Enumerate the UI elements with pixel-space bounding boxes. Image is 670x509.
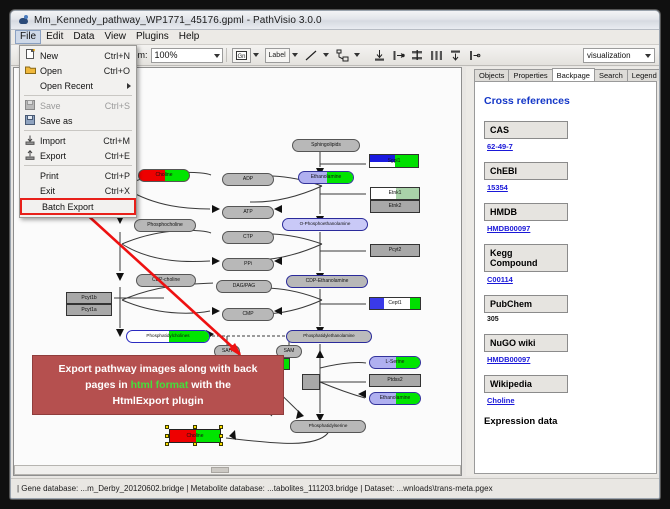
line-icon bbox=[305, 49, 318, 62]
toolbar-separator bbox=[226, 48, 227, 62]
menu-item-accelerator: Ctrl+M bbox=[103, 136, 136, 146]
menu-item-print[interactable]: Print Ctrl+P bbox=[20, 168, 136, 183]
node-label: PPi bbox=[244, 262, 252, 267]
node-ppi[interactable]: PPi bbox=[222, 258, 274, 271]
chevron-down-icon bbox=[214, 54, 220, 58]
node-grey-small[interactable] bbox=[302, 374, 320, 390]
menu-item-accelerator: Ctrl+E bbox=[105, 151, 136, 161]
annotation-line3: HtmlExport plugin bbox=[113, 395, 204, 407]
menu-item-label: Print bbox=[40, 171, 105, 181]
menu-plugins[interactable]: Plugins bbox=[131, 30, 174, 44]
svg-text:Gn: Gn bbox=[237, 54, 245, 60]
node-choline[interactable]: Choline bbox=[138, 169, 190, 182]
node-label: Pcyt1b bbox=[81, 296, 96, 301]
annotation-line2-c: with the bbox=[188, 379, 231, 391]
canvas-hscrollbar[interactable] bbox=[14, 465, 461, 475]
node-cdp-choline[interactable]: CDP-choline bbox=[136, 274, 196, 287]
pathvisio-icon bbox=[18, 15, 29, 26]
align-center-tool[interactable] bbox=[409, 47, 426, 64]
node-adp[interactable]: ADP bbox=[222, 173, 274, 186]
menu-item-label: Open Recent bbox=[40, 81, 136, 91]
menu-item-save-as[interactable]: Save as bbox=[20, 113, 136, 128]
save-disk-icon bbox=[20, 100, 40, 112]
xref-source-pubchem: PubChem bbox=[484, 295, 568, 313]
node-l-serine[interactable]: L-Serine bbox=[369, 356, 421, 369]
xref-value-chebi[interactable]: 15354 bbox=[487, 183, 647, 192]
line-tool-chevron-icon[interactable] bbox=[323, 53, 329, 57]
node-atp[interactable]: ATP bbox=[222, 206, 274, 219]
xref-value-wikipedia[interactable]: Choline bbox=[487, 396, 647, 405]
menu-item-accelerator: Ctrl+S bbox=[105, 101, 136, 111]
menu-item-accelerator: Ctrl+P bbox=[105, 171, 136, 181]
selection-handle[interactable] bbox=[219, 434, 223, 438]
submenu-arrow-icon bbox=[127, 83, 131, 89]
selection-handle[interactable] bbox=[193, 442, 197, 446]
node-label: Etnk2 bbox=[389, 204, 402, 209]
node-sgpl1[interactable]: Sgpl1 bbox=[369, 154, 419, 168]
node-phosphatidylethanolamine[interactable]: Phosphatidylethanolamine bbox=[286, 330, 372, 343]
node-label: Pcyt2 bbox=[389, 248, 402, 253]
menu-item-export[interactable]: Export Ctrl+E bbox=[20, 148, 136, 163]
align-top-icon bbox=[373, 49, 386, 62]
selection-handle[interactable] bbox=[165, 434, 169, 438]
cross-references-heading: Cross references bbox=[484, 95, 647, 107]
node-label: O-Phosphoethanolamine bbox=[300, 222, 351, 227]
visualization-select[interactable]: visualization bbox=[583, 48, 655, 63]
expression-green bbox=[410, 298, 421, 309]
node-label: Phosphatidylethanolamine bbox=[303, 334, 355, 338]
node-label: SAH bbox=[222, 349, 232, 354]
menu-file[interactable]: File bbox=[15, 30, 41, 44]
node-label: Sphingolipids bbox=[311, 143, 341, 148]
node-etnk1[interactable]: Etnk1 bbox=[370, 187, 420, 200]
xref-source-nugo-wiki: NuGO wiki bbox=[484, 334, 568, 352]
node-ctp[interactable]: CTP bbox=[222, 231, 274, 244]
node-label: Etnk1 bbox=[389, 191, 402, 196]
node-label: CMP bbox=[242, 312, 253, 317]
node-label: Sgpl1 bbox=[388, 159, 401, 164]
align-top-tool[interactable] bbox=[371, 47, 388, 64]
selection-handle[interactable] bbox=[219, 442, 223, 446]
align-right-tool[interactable] bbox=[466, 47, 483, 64]
node-label: SAM bbox=[284, 349, 295, 354]
node-label: Choline bbox=[156, 173, 173, 178]
expression-blue bbox=[370, 298, 384, 309]
selection-handle[interactable] bbox=[165, 425, 169, 429]
node-label: Ethanolamine bbox=[380, 396, 411, 401]
node-ethanolamine[interactable]: Ethanolamine bbox=[298, 171, 354, 184]
align-left-tool[interactable] bbox=[390, 47, 407, 64]
node-cmp[interactable]: CMP bbox=[222, 308, 274, 321]
menu-separator bbox=[24, 165, 132, 166]
node-dag-pag[interactable]: DAG/PAG bbox=[216, 280, 272, 293]
node-label: Ptdss2 bbox=[387, 378, 402, 383]
node-cept1[interactable]: Cept1 bbox=[369, 297, 421, 310]
xref-source-kegg-compound: Kegg Compound bbox=[484, 244, 568, 272]
align-bottom-tool[interactable] bbox=[447, 47, 464, 64]
menu-item-label: Save bbox=[40, 101, 105, 111]
interaction-icon bbox=[336, 49, 349, 62]
node-choline-selected[interactable]: Choline bbox=[169, 429, 221, 443]
distribute-tool[interactable] bbox=[428, 47, 445, 64]
node-label: Ethanolamine bbox=[311, 175, 342, 180]
node-label: CDP-choline bbox=[152, 278, 180, 283]
selection-handle[interactable] bbox=[219, 425, 223, 429]
status-bar: | Gene database: ...m_Derby_20120602.bri… bbox=[11, 478, 659, 498]
label-tool[interactable]: Label bbox=[265, 48, 290, 63]
menu-separator bbox=[24, 130, 132, 131]
menu-item-label: Export bbox=[40, 151, 105, 161]
menu-item-label: Import bbox=[40, 136, 103, 146]
menu-item-exit[interactable]: Exit Ctrl+X bbox=[20, 183, 136, 198]
node-ptdss2[interactable]: Ptdss2 bbox=[369, 374, 421, 387]
node-pcyt2[interactable]: Pcyt2 bbox=[370, 244, 420, 257]
file-dropdown-menu: New Ctrl+N Open Ctrl+O Open Recent Save … bbox=[19, 45, 137, 218]
menu-item-new[interactable]: New Ctrl+N bbox=[20, 48, 136, 63]
node-phosphatidylcholines[interactable]: Phosphatidylcholines bbox=[126, 330, 210, 343]
visualization-value: visualization bbox=[587, 51, 631, 60]
xref-value-hmdb[interactable]: HMDB00097 bbox=[487, 224, 647, 233]
node-label: ADP bbox=[243, 177, 253, 182]
xref-source-chebi: ChEBI bbox=[484, 162, 568, 180]
tab-objects[interactable]: Objects bbox=[474, 69, 509, 82]
node-o-phosphoethanolamine[interactable]: O-Phosphoethanolamine bbox=[282, 218, 368, 231]
interaction-tool[interactable] bbox=[334, 47, 351, 64]
import-icon bbox=[20, 135, 40, 147]
label-tool-chevron-icon[interactable] bbox=[292, 53, 298, 57]
menu-item-accelerator: Ctrl+X bbox=[105, 186, 136, 196]
tab-legend[interactable]: Legend bbox=[627, 69, 660, 82]
node-ethanolamine-lower[interactable]: Ethanolamine bbox=[369, 392, 421, 405]
xref-value-nugo-wiki[interactable]: HMDB00097 bbox=[487, 355, 647, 364]
node-pcyt1a[interactable]: Pcyt1a bbox=[66, 304, 112, 316]
node-label: ATP bbox=[243, 210, 252, 215]
chevron-down-icon bbox=[645, 54, 651, 58]
node-label: DAG/PAG bbox=[233, 284, 255, 289]
save-as-icon bbox=[20, 115, 40, 127]
title-bar: Mm_Kennedy_pathway_WP1771_45176.gpml - P… bbox=[11, 11, 659, 30]
xref-value-cas[interactable]: 62-49-7 bbox=[487, 142, 647, 151]
node-label: Phosphatidylserine bbox=[309, 424, 348, 429]
open-folder-icon bbox=[20, 65, 40, 77]
gene-product-icon: Gn bbox=[236, 51, 247, 60]
menu-item-label: Save as bbox=[40, 116, 130, 126]
pathvisio-window: Mm_Kennedy_pathway_WP1771_45176.gpml - P… bbox=[10, 10, 660, 499]
line-tool[interactable] bbox=[303, 47, 320, 64]
tab-properties[interactable]: Properties bbox=[508, 69, 552, 82]
xref-source-hmdb: HMDB bbox=[484, 203, 568, 221]
panel-tab-strip: Objects Properties Backpage Search Legen… bbox=[474, 67, 657, 82]
align-left-icon bbox=[392, 49, 405, 62]
distribute-icon bbox=[430, 49, 443, 62]
xref-source-wikipedia: Wikipedia bbox=[484, 375, 568, 393]
xref-value-pubchem: 305 bbox=[487, 316, 647, 323]
zoom-value: 100% bbox=[155, 50, 178, 60]
tab-search[interactable]: Search bbox=[594, 69, 628, 82]
menu-item-accelerator: Ctrl+N bbox=[104, 51, 136, 61]
node-sphingolipids[interactable]: Sphingolipids bbox=[292, 139, 360, 152]
menu-view[interactable]: View bbox=[99, 30, 131, 44]
expression-data-heading: Expression data bbox=[484, 416, 647, 427]
new-document-icon bbox=[20, 49, 40, 62]
node-etnk2[interactable]: Etnk2 bbox=[370, 200, 420, 213]
node-label: CTP bbox=[243, 235, 253, 240]
window-title: Mm_Kennedy_pathway_WP1771_45176.gpml - P… bbox=[34, 15, 322, 26]
node-label: Pcyt1a bbox=[81, 308, 96, 313]
selection-handle[interactable] bbox=[165, 442, 169, 446]
menu-edit[interactable]: Edit bbox=[41, 30, 68, 44]
menu-data[interactable]: Data bbox=[68, 30, 99, 44]
selection-handle[interactable] bbox=[193, 425, 197, 429]
backpage-content: Cross references CAS 62-49-7 ChEBI 15354… bbox=[474, 82, 657, 474]
menu-item-label: New bbox=[40, 51, 104, 61]
zoom-select[interactable]: 100% bbox=[151, 48, 223, 63]
annotation-line1: Export pathway images along with back bbox=[59, 363, 258, 375]
status-text: | Gene database: ...m_Derby_20120602.bri… bbox=[11, 484, 493, 493]
gene-product-tool[interactable]: Gn bbox=[232, 48, 251, 63]
menu-separator bbox=[24, 95, 132, 96]
menu-item-label: Open bbox=[40, 66, 104, 76]
xref-value-kegg-compound[interactable]: C00114 bbox=[487, 275, 647, 284]
menu-item-label: Batch Export bbox=[42, 202, 134, 212]
menu-item-import[interactable]: Import Ctrl+M bbox=[20, 133, 136, 148]
annotation-text: Export pathway images along with back pa… bbox=[53, 361, 264, 409]
menu-item-open[interactable]: Open Ctrl+O bbox=[20, 63, 136, 78]
xref-source-cas: CAS bbox=[484, 121, 568, 139]
menu-item-label: Exit bbox=[40, 186, 105, 196]
annotation-highlight: html format bbox=[131, 379, 189, 391]
node-label: Phosphocholine bbox=[147, 223, 183, 228]
menu-help[interactable]: Help bbox=[174, 30, 205, 44]
export-icon bbox=[20, 150, 40, 162]
align-right-icon bbox=[468, 49, 481, 62]
interaction-tool-chevron-icon[interactable] bbox=[354, 53, 360, 57]
node-label: Cept1 bbox=[388, 301, 401, 306]
node-label: Choline bbox=[187, 434, 204, 439]
node-pcyt1b[interactable]: Pcyt1b bbox=[66, 292, 112, 304]
tab-backpage[interactable]: Backpage bbox=[552, 68, 595, 82]
side-panel: Objects Properties Backpage Search Legen… bbox=[466, 67, 657, 476]
menu-item-open-recent[interactable]: Open Recent bbox=[20, 78, 136, 93]
node-label: CDP-Ethanolamine bbox=[306, 279, 349, 284]
menu-item-batch-export[interactable]: Batch Export bbox=[20, 198, 136, 215]
node-label: Phosphatidylcholines bbox=[146, 334, 189, 339]
node-cdp-ethanolamine[interactable]: CDP-Ethanolamine bbox=[286, 275, 368, 288]
menu-item-accelerator: Ctrl+O bbox=[104, 66, 136, 76]
annotation-banner: Export pathway images along with back pa… bbox=[32, 355, 284, 415]
node-label: L-Serine bbox=[386, 360, 405, 365]
node-phosphocholine[interactable]: Phosphocholine bbox=[134, 219, 196, 232]
node-phosphatidylserine[interactable]: Phosphatidylserine bbox=[290, 420, 366, 433]
scrollbar-thumb[interactable] bbox=[211, 467, 229, 473]
align-bottom-icon bbox=[449, 49, 462, 62]
desktop-background: Mm_Kennedy_pathway_WP1771_45176.gpml - P… bbox=[0, 0, 670, 509]
menu-item-save: Save Ctrl+S bbox=[20, 98, 136, 113]
align-center-icon bbox=[411, 49, 424, 62]
annotation-line2-a: pages in bbox=[85, 379, 131, 391]
menu-bar: File Edit Data View Plugins Help bbox=[11, 30, 659, 45]
gene-tool-chevron-icon[interactable] bbox=[253, 53, 259, 57]
